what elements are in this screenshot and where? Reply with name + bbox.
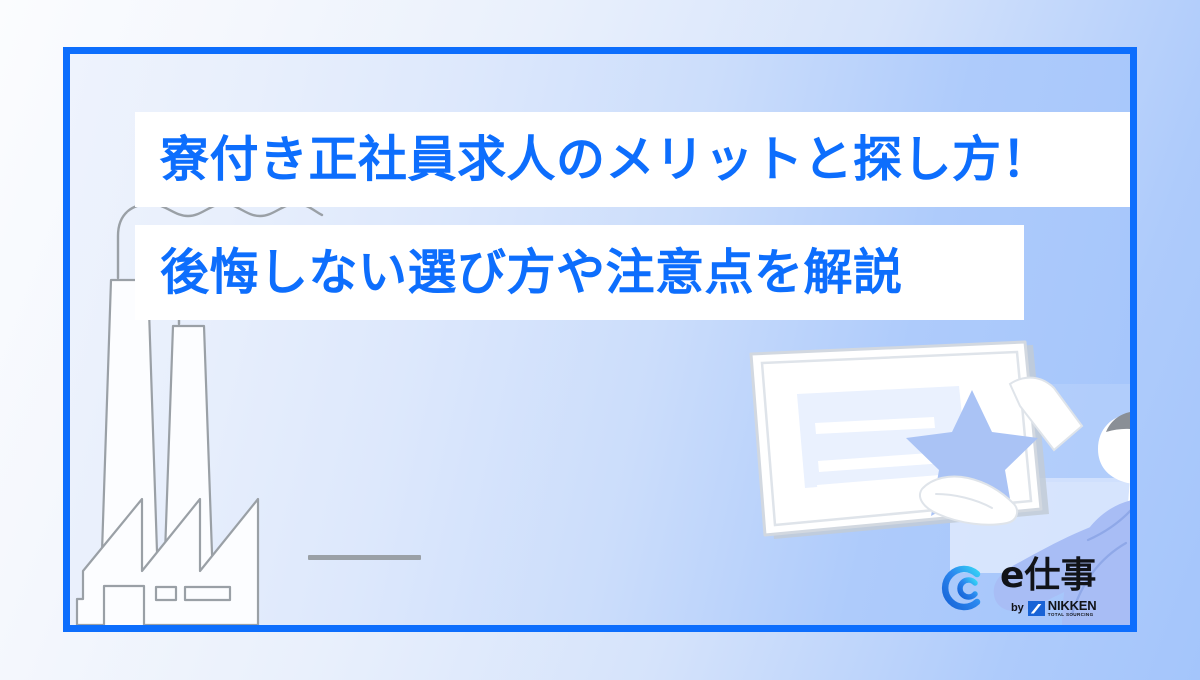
logo-wordblock: e仕事 by NIKKEN TOTAL SOURCING bbox=[1000, 558, 1096, 618]
logo-wordmark: e仕事 bbox=[1000, 558, 1096, 594]
backdrop-panel bbox=[950, 384, 1130, 573]
title-line-2: 後悔しない選び方や注意点を解説 bbox=[160, 248, 903, 297]
title-line-1: 寮付き正社員求人のメリットと探し方！ bbox=[160, 135, 1051, 184]
nikken-brand-name: NIKKEN bbox=[1048, 599, 1097, 612]
ground-line bbox=[308, 555, 421, 560]
e-shigoto-logo-icon bbox=[938, 563, 988, 613]
nikken-textblock: NIKKEN TOTAL SOURCING bbox=[1048, 599, 1097, 618]
by-label: by bbox=[1011, 603, 1024, 614]
tilted-tablet-device bbox=[751, 342, 1049, 539]
brand-logo-lockup: e仕事 by NIKKEN TOTAL SOURCING bbox=[938, 557, 1128, 619]
nikken-tagline: TOTAL SOURCING bbox=[1048, 613, 1097, 618]
factory-building bbox=[77, 280, 258, 625]
nikken-mark-icon bbox=[1028, 601, 1045, 616]
blue-frame: 寮付き正社員求人のメリットと探し方！ 後悔しない選び方や注意点を解説 bbox=[63, 47, 1137, 632]
title-band-line-1: 寮付き正社員求人のメリットと探し方！ bbox=[135, 112, 1137, 207]
banner-canvas: 寮付き正社員求人のメリットと探し方！ 後悔しない選び方や注意点を解説 bbox=[0, 0, 1200, 680]
parent-brand-row: by NIKKEN TOTAL SOURCING bbox=[1011, 599, 1096, 618]
title-band-line-2: 後悔しない選び方や注意点を解説 bbox=[135, 225, 1024, 320]
star-badge bbox=[906, 390, 1038, 516]
